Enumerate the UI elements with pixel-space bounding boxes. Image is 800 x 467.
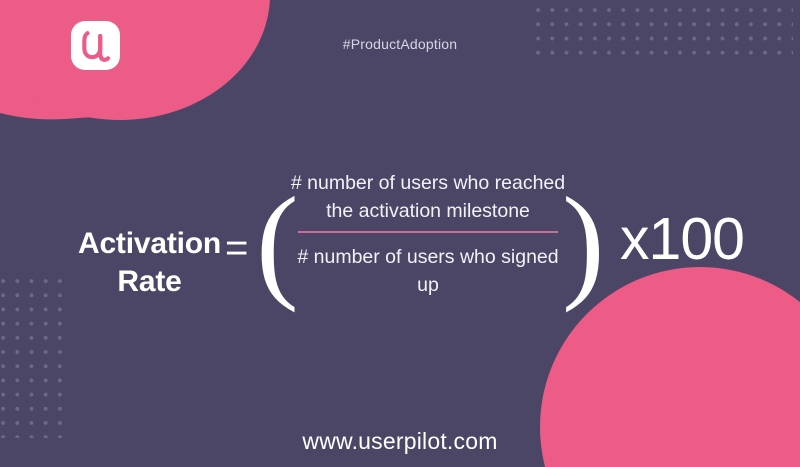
fraction-denominator: # number of users who signed up [290, 233, 566, 299]
hashtag-label: #ProductAdoption [0, 36, 800, 52]
fraction-numerator: # number of users who reached the activa… [290, 170, 566, 231]
formula-block: Activation Rate = ( # number of users wh… [0, 170, 800, 360]
formula-title: Activation Rate [62, 225, 237, 300]
multiplier-label: x100 [620, 210, 744, 269]
equals-sign: = [225, 228, 248, 268]
website-url: www.userpilot.com [0, 428, 800, 455]
infographic-canvas: #ProductAdoption Activation Rate = ( # n… [0, 0, 800, 467]
parenthesis-close: ) [562, 178, 605, 306]
fraction: # number of users who reached the activa… [290, 170, 566, 300]
formula-title-line-1: Activation [62, 225, 237, 263]
formula-title-line-2: Rate [62, 263, 237, 301]
